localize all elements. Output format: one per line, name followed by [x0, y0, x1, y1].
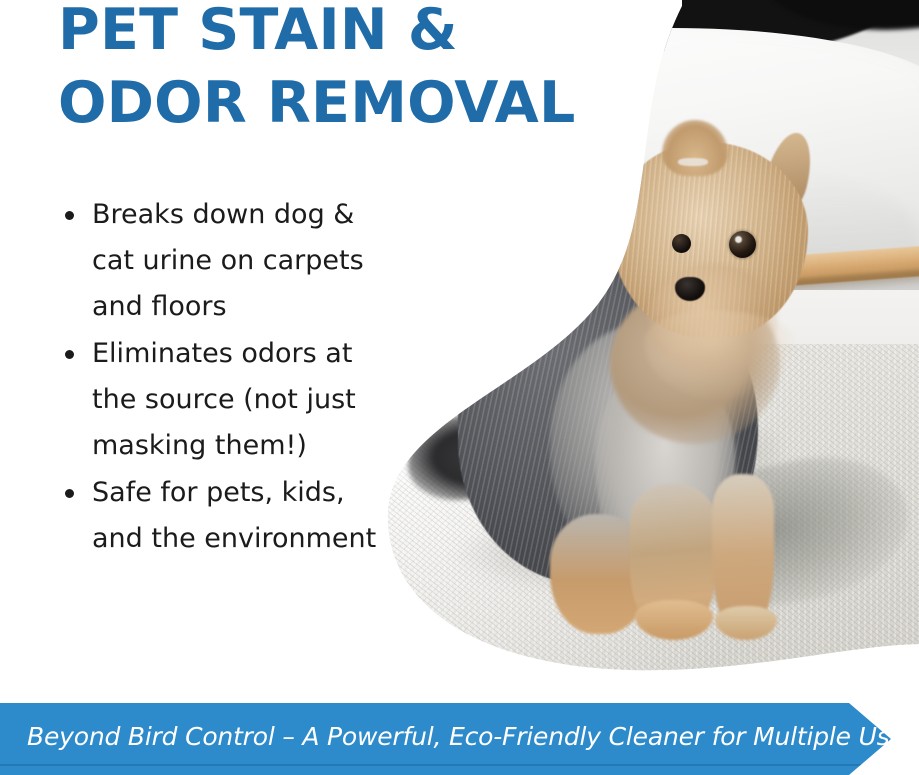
page-title: PET STAIN & ODOR REMOVAL	[58, 0, 658, 140]
dog-topknot	[662, 120, 728, 176]
benefit-text: Safe for pets, kids, and the environment	[92, 477, 376, 554]
list-item: Eliminates odors at the source (not just…	[58, 331, 388, 469]
yorkshire-terrier	[430, 114, 850, 614]
bullet-dot-icon	[65, 211, 74, 220]
list-item: Safe for pets, kids, and the environment	[58, 470, 388, 562]
benefit-text: Eliminates odors at the source (not just…	[92, 338, 356, 461]
dog-eye-glint	[735, 236, 742, 243]
tagline-banner-underline	[0, 764, 919, 766]
dog-eye-left	[672, 234, 691, 253]
list-item: Breaks down dog & cat urine on carpets a…	[58, 192, 388, 330]
dog-topknot-band	[678, 158, 708, 166]
dog-eye-right	[729, 231, 756, 258]
bullet-dot-icon	[65, 350, 74, 359]
tagline-text: Beyond Bird Control – A Powerful, Eco-Fr…	[27, 715, 919, 759]
benefit-text: Breaks down dog & cat urine on carpets a…	[92, 199, 364, 322]
bullet-dot-icon	[65, 489, 74, 498]
benefits-list: Breaks down dog & cat urine on carpets a…	[58, 192, 388, 563]
